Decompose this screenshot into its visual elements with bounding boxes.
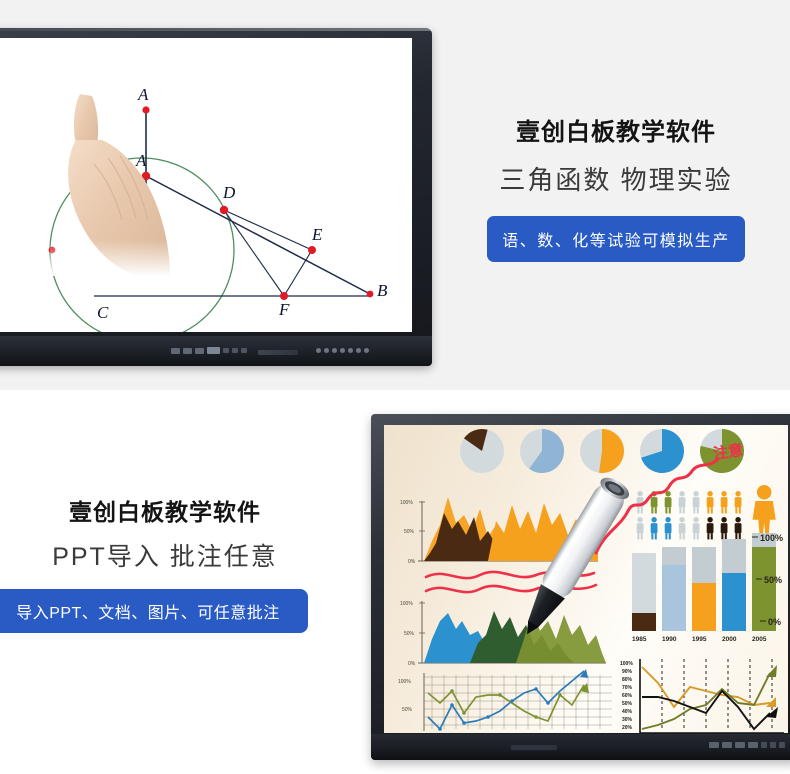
svg-text:0%: 0% <box>408 661 416 667</box>
svg-text:20%: 20% <box>622 725 633 731</box>
svg-text:50%: 50% <box>404 529 415 535</box>
infographic-screen[interactable]: 100%50%0% <box>384 425 788 733</box>
source-button[interactable] <box>735 742 745 748</box>
svg-text:50%: 50% <box>764 575 782 585</box>
menu-button[interactable] <box>183 348 192 354</box>
volume-up-button[interactable] <box>232 348 238 353</box>
home-button[interactable] <box>748 742 758 748</box>
section-divider <box>0 390 790 400</box>
svg-text:2000: 2000 <box>722 636 737 643</box>
top-copy-block: 壹创白板教学软件 三角函数 物理实验 语、数、化等试验可模拟生产 <box>448 118 784 262</box>
power-button[interactable] <box>709 742 719 748</box>
svg-text:50%: 50% <box>402 707 413 713</box>
bottom-feature-pill[interactable]: 导入PPT、文档、图片、可任意批注 <box>0 589 308 633</box>
svg-text:A: A <box>137 85 149 104</box>
grid-line-chart: 100%50% <box>398 669 612 731</box>
product-page: A A D E B F C <box>0 0 790 774</box>
svg-text:1990: 1990 <box>662 636 677 643</box>
volume-down-button[interactable] <box>223 348 229 353</box>
svg-text:80%: 80% <box>622 677 633 683</box>
top-subtitle: 三角函数 物理实验 <box>448 162 784 200</box>
volume-up-button[interactable] <box>770 742 776 748</box>
svg-text:60%: 60% <box>622 693 633 699</box>
dashed-line-chart: 100%90% 80%70% 60%50% 40%30% 20%10% <box>620 659 784 733</box>
infographic-whiteboard-display[interactable]: 100%50%0% <box>371 414 790 760</box>
brand-logo <box>511 745 557 750</box>
svg-text:C: C <box>97 303 109 322</box>
top-title: 壹创白板教学软件 <box>448 118 784 148</box>
bezel-control-buttons[interactable] <box>709 742 785 748</box>
home-button[interactable] <box>207 347 220 354</box>
svg-text:100%: 100% <box>400 601 413 607</box>
back-button[interactable] <box>779 742 785 748</box>
geometry-construction: A A D E B F C <box>0 38 412 332</box>
power-button[interactable] <box>171 348 180 354</box>
bottom-copy-block: 壹创白板教学软件 PPT导入 批注任意 导入PPT、文档、图片、可任意批注 <box>0 498 330 633</box>
menu-button[interactable] <box>722 742 732 748</box>
svg-text:30%: 30% <box>622 717 633 723</box>
bottom-subtitle: PPT导入 批注任意 <box>0 539 330 575</box>
svg-text:F: F <box>278 300 290 319</box>
top-feature-pill[interactable]: 语、数、化等试验可模拟生产 <box>487 216 745 262</box>
svg-text:70%: 70% <box>622 685 633 691</box>
svg-text:0%: 0% <box>408 559 416 565</box>
svg-text:B: B <box>377 281 388 300</box>
monitor-bottom-bezel[interactable] <box>0 336 432 366</box>
bezel-control-buttons[interactable] <box>171 347 247 354</box>
whiteboard-screen[interactable]: A A D E B F C <box>0 38 412 332</box>
svg-text:E: E <box>311 225 323 244</box>
svg-text:50%: 50% <box>404 631 415 637</box>
interactive-whiteboard-display[interactable]: A A D E B F C <box>0 28 432 366</box>
pictogram-row-2 <box>637 517 742 539</box>
monitor-bottom-bezel[interactable] <box>371 734 790 760</box>
speaker-grille <box>316 348 369 353</box>
svg-text:40%: 40% <box>622 709 633 715</box>
svg-text:50%: 50% <box>622 701 633 707</box>
svg-text:A: A <box>135 151 147 170</box>
svg-text:1985: 1985 <box>632 636 647 643</box>
back-button[interactable] <box>241 348 247 353</box>
area-chart-mid: 100%50%0% <box>400 601 606 667</box>
svg-text:1995: 1995 <box>692 636 707 643</box>
bottom-title: 壹创白板教学软件 <box>0 498 330 527</box>
svg-text:D: D <box>222 183 236 202</box>
highlight-figure <box>753 485 776 537</box>
circle-c <box>50 158 234 332</box>
svg-text:100%: 100% <box>760 533 783 543</box>
area-chart-top: 100%50%0% <box>400 497 598 565</box>
brand-logo <box>258 350 298 355</box>
top-panel: A A D E B F C <box>0 0 790 396</box>
progress-gauges: 100% 50% 0% 19851990 19952000 2005 <box>632 533 783 643</box>
svg-text:100%: 100% <box>400 500 413 506</box>
volume-down-button[interactable] <box>761 742 767 748</box>
svg-text:100%: 100% <box>398 679 411 685</box>
source-button[interactable] <box>195 348 204 354</box>
svg-text:2005: 2005 <box>752 636 767 643</box>
svg-text:0%: 0% <box>768 617 781 627</box>
svg-text:100%: 100% <box>620 661 633 667</box>
infographic-canvas: 100%50%0% <box>384 425 788 733</box>
red-marker-squiggle <box>426 572 596 592</box>
svg-text:90%: 90% <box>622 669 633 675</box>
